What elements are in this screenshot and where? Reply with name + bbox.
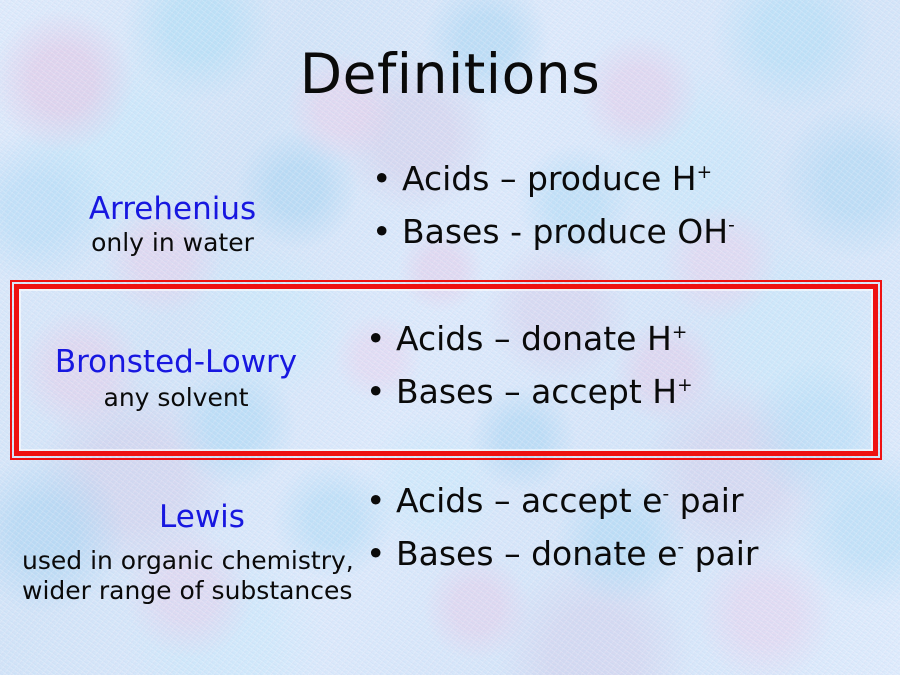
bullet-action: accept [531, 372, 642, 411]
bullet-species: H [672, 159, 697, 198]
list-item: •Acids – accept e- pair [366, 474, 758, 527]
bullet-species: e [657, 534, 677, 573]
bullet-dot-icon: • [366, 365, 396, 418]
page-title: Definitions [0, 46, 900, 104]
definition-name-bronsted-lowry: Bronsted-Lowry [0, 345, 352, 379]
slide-canvas: Definitions Arrehenius only in water •Ac… [0, 0, 900, 675]
definition-name-arrehenius: Arrehenius [0, 192, 345, 226]
definition-note-lewis: used in organic chemistry, wider range o… [0, 546, 404, 605]
definition-label-arrehenius: Arrehenius only in water [0, 192, 345, 258]
bullet-dot-icon: • [366, 527, 396, 580]
definition-note-bronsted-lowry: any solvent [0, 383, 352, 413]
bullet-dash: – [504, 534, 521, 573]
definition-note-lewis-line1: used in organic chemistry, [22, 546, 404, 576]
definition-name-lewis: Lewis [0, 500, 404, 534]
bullet-list-lewis: •Acids – accept e- pair •Bases – donate … [366, 474, 758, 581]
bullet-action: donate [531, 534, 647, 573]
bullet-dash: – [494, 481, 511, 520]
bullet-subject: Acids [396, 481, 483, 520]
list-item: •Acids – donate H+ [366, 312, 693, 365]
list-item: •Bases – accept H+ [366, 365, 693, 418]
bullet-species: H [647, 319, 672, 358]
bullet-action: produce [527, 159, 661, 198]
bullet-suffix: pair [680, 481, 744, 520]
bullet-dash: – [494, 319, 511, 358]
bullet-subject: Bases [402, 212, 500, 251]
bullet-charge: - [728, 215, 735, 236]
list-item: •Bases - produce OH- [372, 205, 735, 258]
bullet-dash: - [510, 212, 522, 251]
bullet-dot-icon: • [372, 152, 402, 205]
bullet-subject: Acids [402, 159, 489, 198]
bullet-suffix: pair [695, 534, 759, 573]
bullet-dash: – [504, 372, 521, 411]
definition-label-bronsted-lowry: Bronsted-Lowry any solvent [0, 345, 352, 413]
bullet-dot-icon: • [372, 205, 402, 258]
bullet-dot-icon: • [366, 474, 396, 527]
bullet-subject: Bases [396, 372, 494, 411]
list-item: •Acids – produce H+ [372, 152, 735, 205]
bullet-list-bronsted-lowry: •Acids – donate H+ •Bases – accept H+ [366, 312, 693, 419]
bullet-subject: Bases [396, 534, 494, 573]
bullet-dash: – [500, 159, 517, 198]
bullet-charge: + [697, 162, 712, 183]
bullet-charge: + [672, 322, 687, 343]
bullet-subject: Acids [396, 319, 483, 358]
bullet-action: donate [521, 319, 637, 358]
bullet-species: e [642, 481, 662, 520]
definition-note-lewis-line2: wider range of substances [22, 576, 404, 606]
slide-content: Definitions Arrehenius only in water •Ac… [0, 0, 900, 675]
bullet-list-arrehenius: •Acids – produce H+ •Bases - produce OH- [372, 152, 735, 259]
definition-note-arrehenius: only in water [0, 228, 345, 258]
bullet-dot-icon: • [366, 312, 396, 365]
bullet-action: produce [532, 212, 666, 251]
bullet-charge: + [677, 375, 692, 396]
definition-label-lewis: Lewis used in organic chemistry, wider r… [0, 500, 404, 605]
bullet-species: OH [677, 212, 728, 251]
bullet-action: accept [521, 481, 632, 520]
list-item: •Bases – donate e- pair [366, 527, 758, 580]
bullet-species: H [652, 372, 677, 411]
